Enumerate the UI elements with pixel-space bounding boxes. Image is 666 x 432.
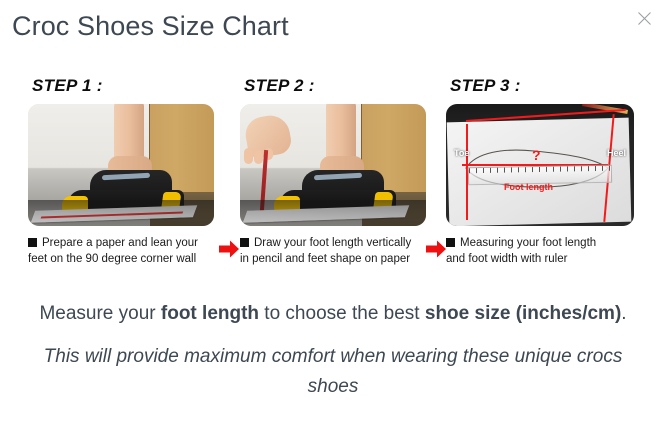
footer-line-1-part-3: .	[621, 303, 626, 324]
close-icon	[637, 11, 652, 26]
footer-line-1-bold-1: foot length	[161, 303, 259, 324]
floor-reflection	[28, 200, 214, 226]
page-title: Croc Shoes Size Chart	[12, 11, 289, 42]
footer-line-1: Measure your foot length to choose the b…	[0, 300, 666, 328]
step-2-caption: Draw your foot length vertically in penc…	[240, 235, 430, 267]
step-2-label: STEP 2 :	[244, 76, 442, 96]
modal-header: Croc Shoes Size Chart	[0, 0, 666, 62]
bullet-square-icon	[240, 238, 249, 247]
step-2-scene	[240, 104, 426, 226]
floor-reflection	[240, 200, 426, 226]
step-1-scene	[28, 104, 214, 226]
step-1: STEP 1 : Prepare a	[28, 76, 230, 291]
step-3-label: STEP 3 :	[450, 76, 648, 96]
bullet-square-icon	[446, 238, 455, 247]
step-2-caption-line-2: in pencil and feet shape on paper	[240, 253, 410, 265]
step-1-caption: Prepare a paper and lean your feet on th…	[28, 235, 218, 267]
step-1-label: STEP 1 :	[32, 76, 230, 96]
step-3-caption: Measuring your foot length and foot widt…	[446, 235, 636, 267]
toe-label: Toe	[454, 148, 469, 158]
foot-length-label: Foot length	[504, 182, 553, 192]
finger	[244, 148, 253, 164]
footer-text: Measure your foot length to choose the b…	[0, 300, 666, 402]
step-2: STEP 2 :	[240, 76, 442, 291]
step-3-caption-line-2: and foot width with ruler	[446, 253, 567, 265]
footer-line-1-part-2: to choose the best	[259, 303, 425, 324]
heel-label: Heel	[607, 148, 626, 158]
step-2-photo	[240, 104, 426, 226]
question-mark-label: ?	[532, 148, 541, 162]
finger	[254, 150, 263, 164]
step-2-caption-line-1: Draw your foot length vertically	[254, 237, 411, 249]
footer-line-1-part-1: Measure your	[39, 303, 160, 324]
step-1-photo	[28, 104, 214, 226]
close-button[interactable]	[631, 5, 657, 31]
step-1-caption-line-1: Prepare a paper and lean your	[42, 237, 198, 249]
footer-line-2: This will provide maximum comfort when w…	[0, 342, 666, 402]
footer-line-1-bold-2: shoe size (inches/cm)	[425, 303, 621, 324]
step-3-photo: Toe Heel ? Foot length	[446, 104, 634, 226]
step-3-scene: Toe Heel ? Foot length	[446, 104, 634, 226]
size-chart-modal: Croc Shoes Size Chart STEP 1 :	[0, 0, 666, 432]
ruler-ticks	[469, 166, 611, 173]
step-3: STEP 3 : Toe Heel	[446, 76, 648, 291]
step-3-caption-line-1: Measuring your foot length	[460, 237, 596, 249]
steps-row: STEP 1 : Prepare a	[0, 76, 666, 291]
arrow-right-icon-2	[426, 240, 446, 258]
step-1-caption-line-2: feet on the 90 degree corner wall	[28, 253, 196, 265]
bullet-square-icon	[28, 238, 37, 247]
arrow-right-icon-1	[219, 240, 239, 258]
